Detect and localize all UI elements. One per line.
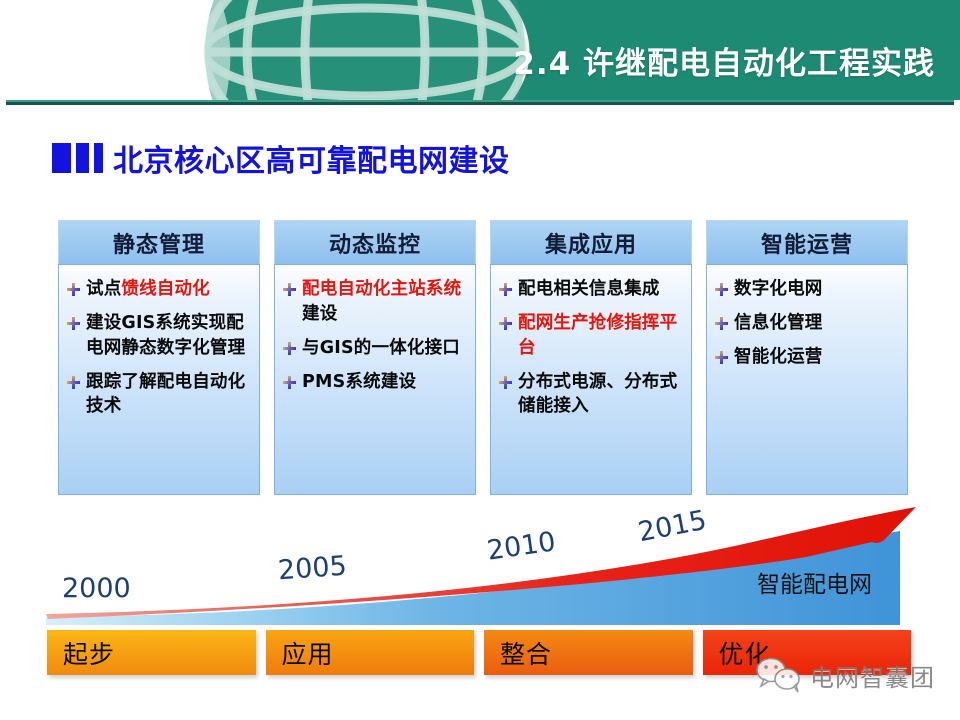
bullet-text-highlight: 配电自动化主站系统 bbox=[302, 279, 461, 299]
bullet-text: 试点馈线自动化 bbox=[86, 277, 210, 302]
bullet-text-run: 建设 bbox=[302, 304, 337, 324]
bullet-marker-icon bbox=[283, 283, 296, 296]
bullet-text-run: 数字化电网 bbox=[734, 279, 823, 299]
bullet-text: 智能化运营 bbox=[734, 345, 823, 370]
column-body: 试点馈线自动化建设GIS系统实现配电网静态数字化管理跟踪了解配电自动化技术 bbox=[58, 264, 260, 495]
stage-label: 起步 bbox=[47, 635, 115, 671]
bullet-text-highlight: 馈线自动化 bbox=[121, 279, 210, 299]
bullet-item: 分布式电源、分布式储能接入 bbox=[499, 370, 683, 420]
title-accent-bar-1 bbox=[52, 143, 71, 173]
bullet-text: 数字化电网 bbox=[734, 277, 823, 302]
stage-label: 应用 bbox=[266, 635, 334, 671]
bullet-text-run: PMS系统建设 bbox=[302, 372, 416, 392]
bullet-text: 配网生产抢修指挥平台 bbox=[518, 311, 683, 361]
bullet-text-run: 试点 bbox=[86, 279, 121, 299]
capability-columns: 静态管理试点馈线自动化建设GIS系统实现配电网静态数字化管理跟踪了解配电自动化技… bbox=[58, 220, 908, 495]
bullet-text-run: 建设GIS系统实现配电网静态数字化管理 bbox=[86, 313, 245, 358]
column-header: 动态监控 bbox=[274, 220, 476, 264]
bullet-text: 与GIS的一体化接口 bbox=[302, 336, 460, 361]
wechat-icon bbox=[752, 655, 806, 695]
header-rule bbox=[6, 102, 954, 105]
bullet-text-run: 配电相关信息集成 bbox=[518, 279, 660, 299]
timeline-year-2005: 2005 bbox=[277, 551, 348, 587]
bullet-text: 建设GIS系统实现配电网静态数字化管理 bbox=[86, 311, 251, 361]
bullet-text-highlight: 配网生产抢修指挥平台 bbox=[518, 313, 677, 358]
capability-column: 智能运营数字化电网信息化管理智能化运营 bbox=[706, 220, 908, 495]
timeline-graphic bbox=[0, 495, 960, 625]
watermark-text: 电网智囊团 bbox=[810, 658, 935, 693]
title-accent-bar-2 bbox=[76, 143, 89, 173]
bullet-marker-icon bbox=[499, 283, 512, 296]
bullet-item: 配电自动化主站系统建设 bbox=[283, 277, 467, 327]
bullet-text-run: 与GIS的一体化接口 bbox=[302, 338, 460, 358]
bullet-text: 分布式电源、分布式储能接入 bbox=[518, 370, 683, 420]
bullet-marker-icon bbox=[67, 317, 80, 330]
column-body: 配电自动化主站系统建设与GIS的一体化接口PMS系统建设 bbox=[274, 264, 476, 495]
bullet-marker-icon bbox=[715, 351, 728, 364]
section-title-text: 北京核心区高可靠配电网建设 bbox=[113, 136, 510, 180]
bullet-text-run: 分布式电源、分布式储能接入 bbox=[518, 372, 677, 417]
stage-label: 整合 bbox=[484, 635, 552, 671]
title-accent-bar-3 bbox=[94, 143, 103, 173]
bullet-text-run: 智能化运营 bbox=[734, 347, 823, 367]
column-header: 智能运营 bbox=[706, 220, 908, 264]
capability-column: 静态管理试点馈线自动化建设GIS系统实现配电网静态数字化管理跟踪了解配电自动化技… bbox=[58, 220, 260, 495]
growth-timeline-chart: 2000 2005 2010 2015 智能配电网 bbox=[0, 495, 960, 625]
column-body: 配电相关信息集成配网生产抢修指挥平台分布式电源、分布式储能接入 bbox=[490, 264, 692, 495]
bullet-marker-icon bbox=[715, 283, 728, 296]
bullet-text: 跟踪了解配电自动化技术 bbox=[86, 370, 251, 420]
stage-bar: 整合 bbox=[484, 630, 693, 675]
capability-column: 动态监控配电自动化主站系统建设与GIS的一体化接口PMS系统建设 bbox=[274, 220, 476, 495]
bullet-marker-icon bbox=[67, 376, 80, 389]
column-header: 静态管理 bbox=[58, 220, 260, 264]
bullet-text-run: 信息化管理 bbox=[734, 313, 823, 333]
bullet-item: PMS系统建设 bbox=[283, 370, 467, 395]
bullet-item: 试点馈线自动化 bbox=[67, 277, 251, 302]
bullet-marker-icon bbox=[499, 376, 512, 389]
bullet-item: 与GIS的一体化接口 bbox=[283, 336, 467, 361]
page-title: 2.4 许继配电自动化工程实践 bbox=[513, 38, 935, 83]
bullet-item: 智能化运营 bbox=[715, 345, 899, 370]
capability-column: 集成应用配电相关信息集成配网生产抢修指挥平台分布式电源、分布式储能接入 bbox=[490, 220, 692, 495]
bullet-text: 配电自动化主站系统建设 bbox=[302, 277, 467, 327]
timeline-year-2000: 2000 bbox=[62, 573, 131, 604]
slide-header: 2.4 许继配电自动化工程实践 bbox=[0, 0, 960, 105]
column-body: 数字化电网信息化管理智能化运营 bbox=[706, 264, 908, 495]
watermark: 电网智囊团 bbox=[752, 655, 935, 695]
bullet-item: 数字化电网 bbox=[715, 277, 899, 302]
stage-bar: 起步 bbox=[47, 630, 256, 675]
timeline-endpoint-label: 智能配电网 bbox=[757, 565, 872, 599]
bullet-item: 配电相关信息集成 bbox=[499, 277, 683, 302]
bullet-marker-icon bbox=[283, 342, 296, 355]
bullet-text: 信息化管理 bbox=[734, 311, 823, 336]
bullet-item: 配网生产抢修指挥平台 bbox=[499, 311, 683, 361]
bullet-item: 建设GIS系统实现配电网静态数字化管理 bbox=[67, 311, 251, 361]
bullet-item: 信息化管理 bbox=[715, 311, 899, 336]
bullet-marker-icon bbox=[715, 317, 728, 330]
slide-root: 2.4 许继配电自动化工程实践 北京核心区高可靠配电网建设 静态管理试点馈线自动… bbox=[0, 0, 960, 720]
stage-bar: 应用 bbox=[266, 630, 475, 675]
section-heading: 北京核心区高可靠配电网建设 bbox=[52, 137, 510, 179]
bullet-marker-icon bbox=[67, 283, 80, 296]
bullet-text: 配电相关信息集成 bbox=[518, 277, 660, 302]
bullet-marker-icon bbox=[499, 317, 512, 330]
bullet-item: 跟踪了解配电自动化技术 bbox=[67, 370, 251, 420]
bullet-text-run: 跟踪了解配电自动化技术 bbox=[86, 372, 245, 417]
column-header: 集成应用 bbox=[490, 220, 692, 264]
bullet-marker-icon bbox=[283, 376, 296, 389]
bullet-text: PMS系统建设 bbox=[302, 370, 416, 395]
